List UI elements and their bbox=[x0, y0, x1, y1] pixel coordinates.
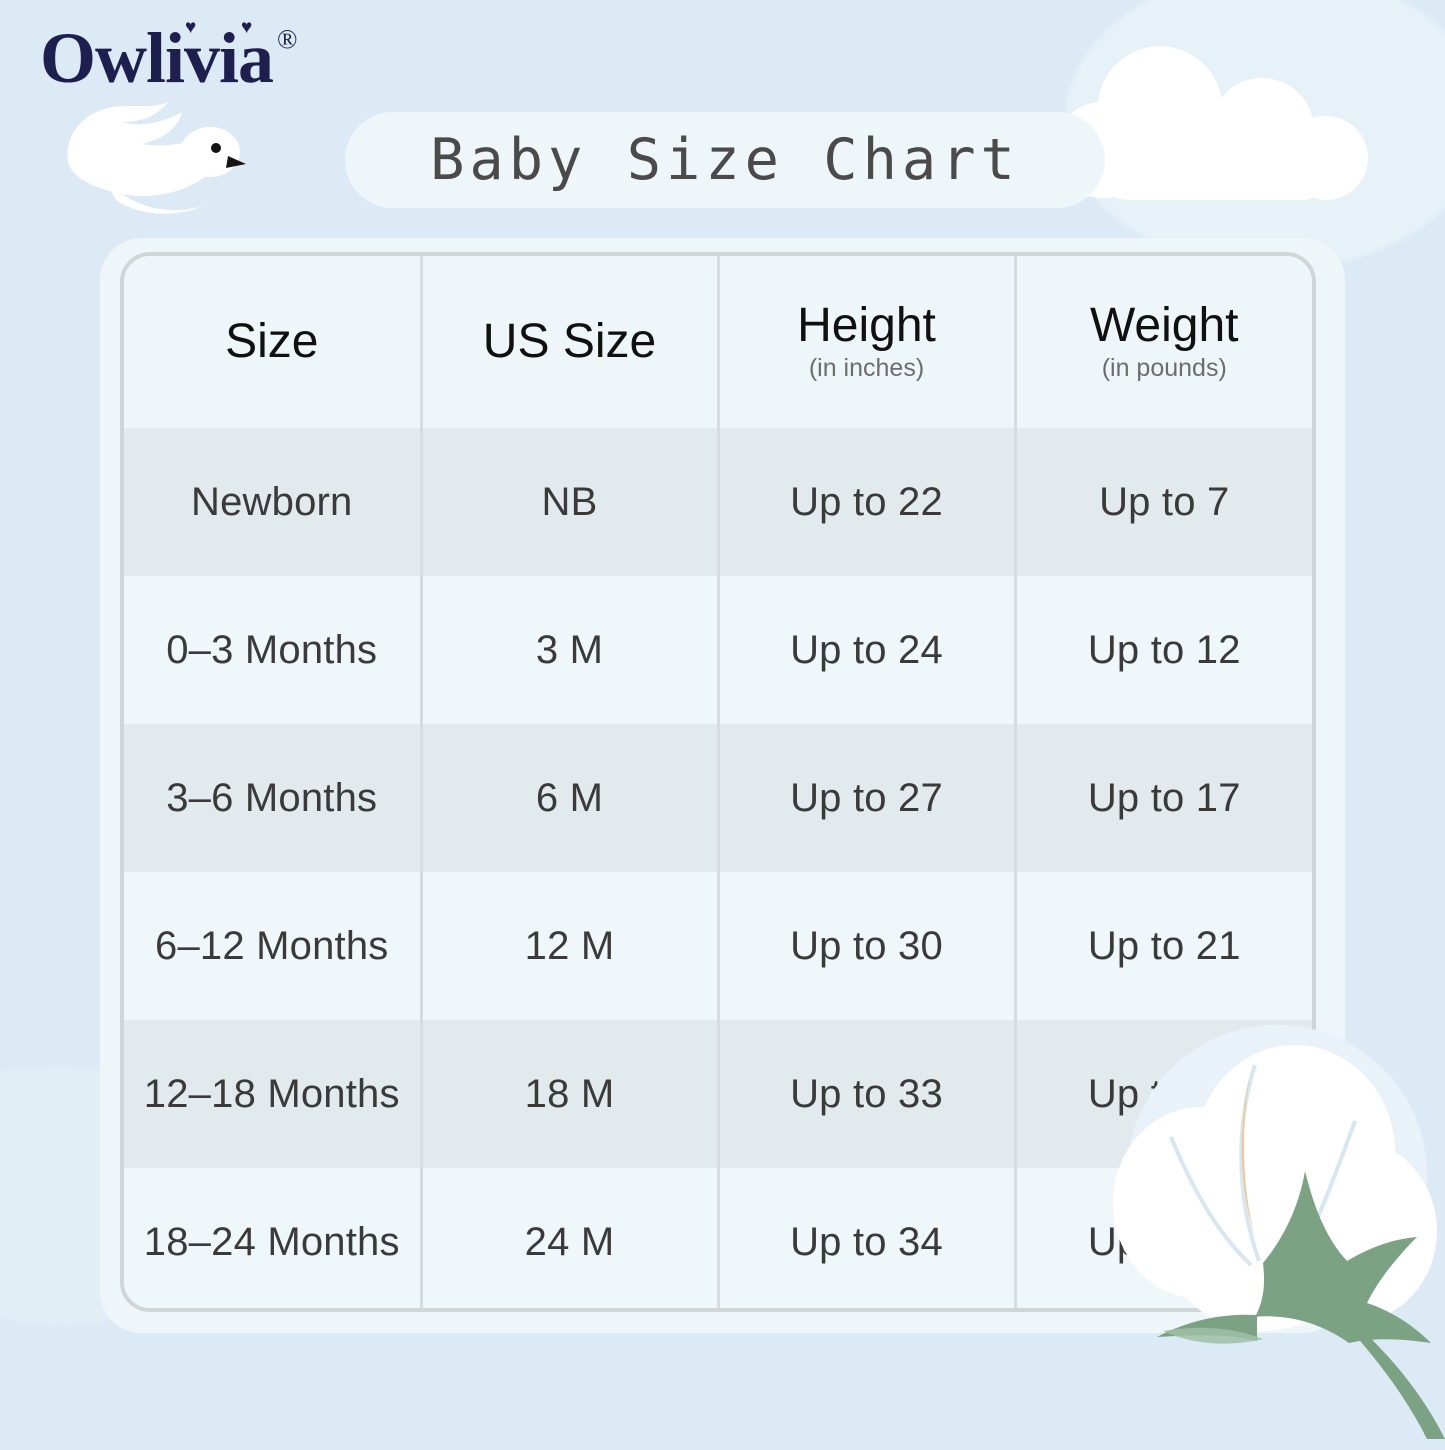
size-chart-table: Size US Size Height (in inches) Weight (… bbox=[124, 256, 1312, 1312]
column-header-weight-unit: (in pounds) bbox=[1017, 355, 1313, 383]
dove-icon bbox=[60, 78, 290, 228]
cell-height: Up to 24 bbox=[718, 576, 1015, 724]
cell-us-size: 24 M bbox=[421, 1168, 718, 1312]
heart-icon-first-i: ♥ bbox=[185, 18, 196, 37]
brand-logo: Owlivia ♥ ♥ ® bbox=[40, 22, 298, 94]
cell-weight: Up to 26 bbox=[1015, 1020, 1312, 1168]
column-header-height-label: Height bbox=[720, 301, 1014, 351]
cell-size: 18–24 Months bbox=[124, 1168, 421, 1312]
cell-height: Up to 27 bbox=[718, 724, 1015, 872]
cell-us-size: 3 M bbox=[421, 576, 718, 724]
cell-us-size: 18 M bbox=[421, 1020, 718, 1168]
table-row: 12–18 Months 18 M Up to 33 Up to 26 bbox=[124, 1020, 1312, 1168]
column-header-size: Size bbox=[124, 256, 421, 428]
column-header-height: Height (in inches) bbox=[718, 256, 1015, 428]
table-row: 6–12 Months 12 M Up to 30 Up to 21 bbox=[124, 872, 1312, 1020]
cell-height: Up to 34 bbox=[718, 1168, 1015, 1312]
cell-weight: Up to 7 bbox=[1015, 428, 1312, 576]
cell-size: 0–3 Months bbox=[124, 576, 421, 724]
page-title: Baby Size Chart bbox=[430, 127, 1020, 193]
cell-size: 3–6 Months bbox=[124, 724, 421, 872]
table-header: Size US Size Height (in inches) Weight (… bbox=[124, 256, 1312, 428]
registered-trademark-icon: ® bbox=[277, 26, 298, 53]
brand-name: Owlivia bbox=[40, 22, 273, 94]
size-chart-table-container: Size US Size Height (in inches) Weight (… bbox=[120, 252, 1316, 1312]
table-row: 0–3 Months 3 M Up to 24 Up to 12 bbox=[124, 576, 1312, 724]
page-title-pill: Baby Size Chart bbox=[345, 112, 1105, 208]
cell-us-size: NB bbox=[421, 428, 718, 576]
cell-us-size: 12 M bbox=[421, 872, 718, 1020]
column-header-height-unit: (in inches) bbox=[720, 355, 1014, 383]
table-header-row: Size US Size Height (in inches) Weight (… bbox=[124, 256, 1312, 428]
column-header-weight-label: Weight bbox=[1017, 301, 1313, 351]
cell-height: Up to 30 bbox=[718, 872, 1015, 1020]
cell-size: 6–12 Months bbox=[124, 872, 421, 1020]
column-header-us-size-label: US Size bbox=[423, 317, 717, 367]
table-body: Newborn NB Up to 22 Up to 7 0–3 Months 3… bbox=[124, 428, 1312, 1312]
column-header-us-size: US Size bbox=[421, 256, 718, 428]
background-blob-top-right bbox=[1065, 0, 1445, 270]
cell-us-size: 6 M bbox=[421, 724, 718, 872]
cell-height: Up to 22 bbox=[718, 428, 1015, 576]
table-row: 18–24 Months 24 M Up to 34 Up to 30 bbox=[124, 1168, 1312, 1312]
cell-size: 12–18 Months bbox=[124, 1020, 421, 1168]
cell-weight: Up to 12 bbox=[1015, 576, 1312, 724]
column-header-weight: Weight (in pounds) bbox=[1015, 256, 1312, 428]
column-header-size-label: Size bbox=[124, 317, 420, 367]
cell-weight: Up to 17 bbox=[1015, 724, 1312, 872]
cell-height: Up to 33 bbox=[718, 1020, 1015, 1168]
table-row: 3–6 Months 6 M Up to 27 Up to 17 bbox=[124, 724, 1312, 872]
cell-weight: Up to 21 bbox=[1015, 872, 1312, 1020]
cell-weight: Up to 30 bbox=[1015, 1168, 1312, 1312]
heart-icon-second-i: ♥ bbox=[241, 18, 252, 37]
table-row: Newborn NB Up to 22 Up to 7 bbox=[124, 428, 1312, 576]
cell-size: Newborn bbox=[124, 428, 421, 576]
